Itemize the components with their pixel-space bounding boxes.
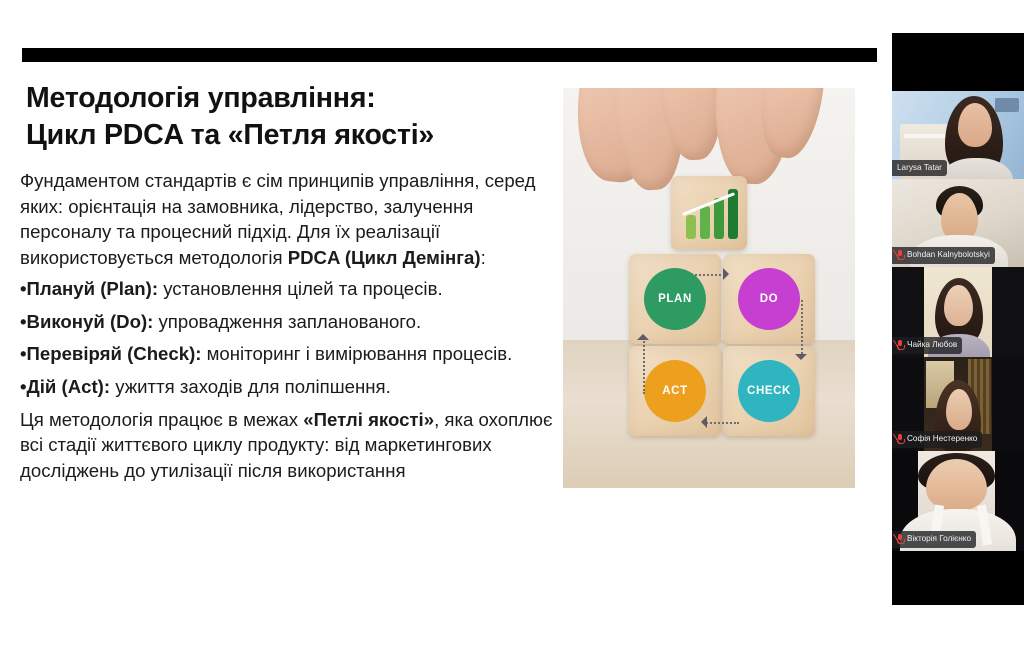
pdca-label-act: ACT	[644, 360, 706, 422]
bullet-description: упровадження запланованого.	[153, 311, 421, 332]
muted-microphone-icon	[897, 434, 904, 444]
title-divider-rule	[22, 48, 877, 62]
video-participants-panel[interactable]: Larysa Tatar Bohdan Kalnybolotskyi Чайка…	[892, 33, 1024, 605]
bullet-term: Виконуй (Do):	[27, 311, 154, 332]
bullet-description: моніторинг і вимірювання процесів.	[201, 343, 512, 364]
participant-name: Larysa Tatar	[897, 164, 942, 172]
cycle-arrowhead-icon	[637, 328, 649, 340]
background-screen	[995, 98, 1019, 112]
title-line-2: Цикл PDCA та «Петля якості»	[26, 117, 566, 154]
growth-bar-chart-icon	[683, 190, 735, 239]
bullet-term: Перевіряй (Check):	[27, 343, 202, 364]
list-item: •Дій (Act): ужиття заходів для поліпшенн…	[20, 374, 555, 400]
title-line-1: Методологія управління:	[26, 80, 566, 117]
participant-tile[interactable]: Чайка Любов	[892, 267, 1024, 357]
cycle-arrow-check-to-act	[703, 422, 739, 424]
cycle-arrow-do-to-check	[801, 300, 803, 358]
intro-text-part-3: :	[481, 247, 486, 268]
bullet-description: установлення цілей та процесів.	[158, 278, 443, 299]
growth-bar	[686, 215, 696, 239]
participant-name-badge: Софія Нестеренко	[892, 431, 982, 449]
growth-bar	[714, 198, 724, 239]
bullet-description: ужиття заходів для поліпшення.	[110, 376, 391, 397]
pdca-blocks-photo: PLAN DO ACT CHECK	[563, 88, 855, 488]
avatar-face	[944, 285, 973, 326]
avatar-face	[958, 103, 992, 147]
participant-name: Софія Нестеренко	[907, 435, 977, 443]
avatar-face	[926, 459, 987, 511]
cycle-arrowhead-icon	[795, 354, 807, 366]
list-item: •Перевіряй (Check): моніторинг і вимірюв…	[20, 341, 555, 367]
participant-name: Bohdan Kalnybolotskyi	[907, 251, 990, 259]
pdca-bullet-list: •Плануй (Plan): установлення цілей та пр…	[20, 276, 555, 399]
participant-name-badge: Чайка Любов	[892, 337, 962, 355]
list-item: •Виконуй (Do): упровадження запланованог…	[20, 309, 555, 335]
presentation-slide: Методологія управління: Цикл PDCA та «Пе…	[0, 0, 1024, 647]
bullet-term: Дій (Act):	[27, 376, 111, 397]
cycle-arrow-act-to-plan	[643, 338, 645, 394]
intro-text-emphasis: PDCA (Цикл Демінга)	[288, 247, 481, 268]
page-title: Методологія управління: Цикл PDCA та «Пе…	[26, 80, 566, 154]
participant-name: Чайка Любов	[907, 341, 957, 349]
outro-paragraph: Ця методологія працює в межах «Петлі яко…	[20, 407, 555, 484]
growth-bar	[700, 206, 710, 239]
cycle-arrowhead-icon	[695, 416, 707, 428]
participant-name-badge: Вікторія Голієнко	[892, 531, 976, 549]
participant-tile[interactable]: Вікторія Голієнко	[892, 451, 1024, 551]
muted-microphone-icon	[897, 340, 904, 350]
outro-text-emphasis: «Петлі якості»	[303, 409, 434, 430]
outro-text-part-1: Ця методологія працює в межах	[20, 409, 303, 430]
participant-tile[interactable]: Софія Нестеренко	[892, 357, 1024, 451]
slide-body: Фундаментом стандартів є сім принципів у…	[20, 168, 555, 483]
cycle-arrow-plan-to-do	[695, 274, 725, 276]
participant-tile[interactable]: Bohdan Kalnybolotskyi	[892, 179, 1024, 267]
cycle-arrowhead-icon	[723, 268, 735, 280]
participant-name-badge: Larysa Tatar	[892, 160, 947, 176]
avatar-face	[946, 389, 972, 430]
bullet-term: Плануй (Plan):	[27, 278, 159, 299]
pdca-label-do: DO	[738, 268, 800, 330]
pdca-label-check: CHECK	[738, 360, 800, 422]
participant-name: Вікторія Голієнко	[907, 535, 971, 543]
panel-empty-area	[892, 551, 1024, 605]
intro-paragraph: Фундаментом стандартів є сім принципів у…	[20, 168, 555, 270]
list-item: •Плануй (Plan): установлення цілей та пр…	[20, 276, 555, 302]
muted-microphone-icon	[897, 534, 904, 544]
pdca-label-plan: PLAN	[644, 268, 706, 330]
growth-chart-block	[671, 176, 747, 250]
participant-name-badge: Bohdan Kalnybolotskyi	[892, 247, 995, 265]
participant-tile[interactable]: Larysa Tatar	[892, 91, 1024, 179]
muted-microphone-icon	[897, 250, 904, 260]
